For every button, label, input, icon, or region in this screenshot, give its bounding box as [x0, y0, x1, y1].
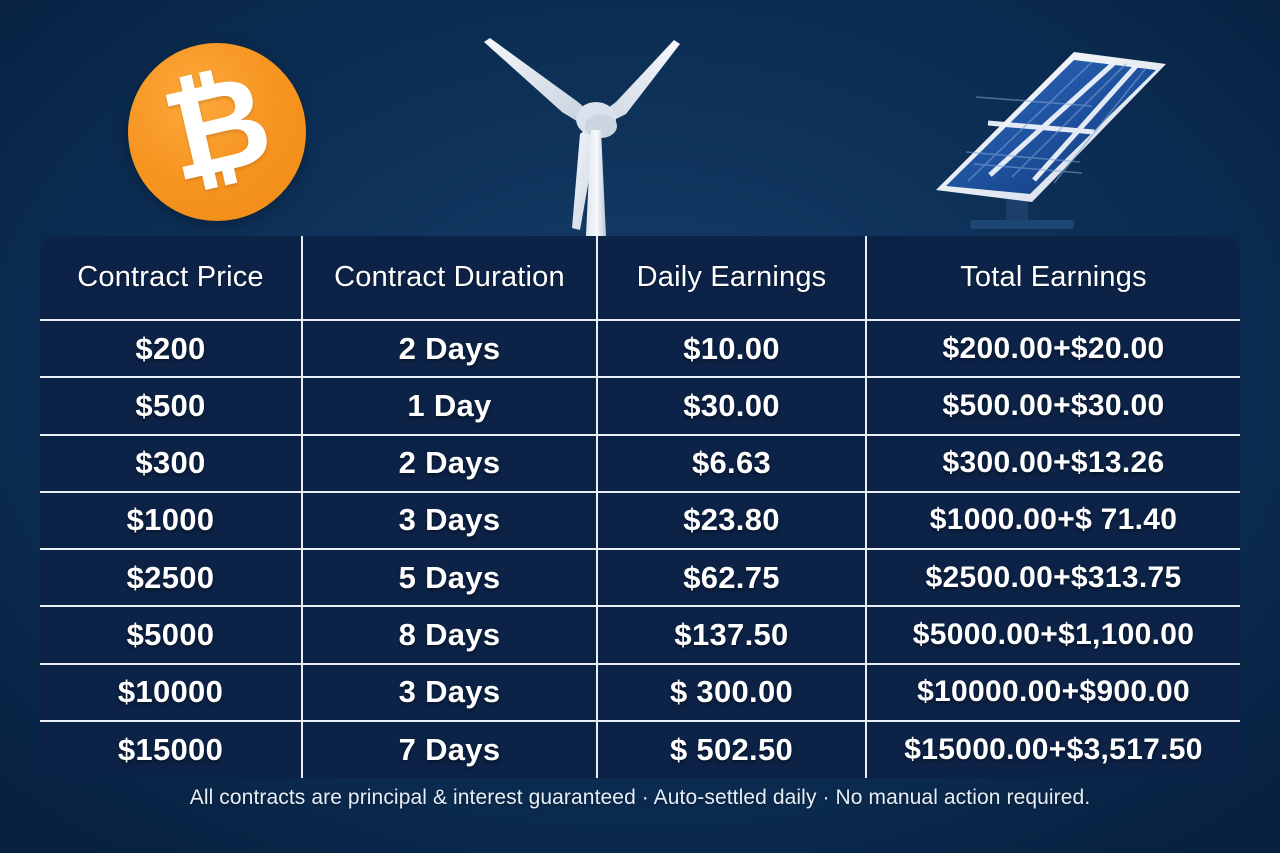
wind-turbine-icon [468, 22, 724, 236]
cell-contract-duration: 2 Days [302, 435, 597, 492]
cell-total-earnings: $300.00+$13.26 [866, 435, 1240, 492]
cell-contract-duration: 2 Days [302, 320, 597, 377]
table-row[interactable]: $200 2 Days $10.00 $200.00+$20.00 [40, 320, 1240, 377]
bitcoin-logo-icon: ₿ [128, 43, 306, 221]
cell-contract-price: $300 [40, 435, 302, 492]
contract-earnings-table: Contract Price Contract Duration Daily E… [40, 236, 1240, 778]
column-header-total-earnings: Total Earnings [866, 236, 1240, 320]
cell-total-earnings: $2500.00+$313.75 [866, 549, 1240, 606]
cell-total-earnings: $500.00+$30.00 [866, 377, 1240, 434]
cell-contract-duration: 8 Days [302, 606, 597, 663]
solar-panel-icon [878, 44, 1170, 236]
cell-daily-earnings: $6.63 [597, 435, 866, 492]
column-header-daily-earnings: Daily Earnings [597, 236, 866, 320]
table-header-row: Contract Price Contract Duration Daily E… [40, 236, 1240, 320]
cell-contract-price: $500 [40, 377, 302, 434]
cell-contract-price: $200 [40, 320, 302, 377]
table-row[interactable]: $500 1 Day $30.00 $500.00+$30.00 [40, 377, 1240, 434]
column-header-contract-duration: Contract Duration [302, 236, 597, 320]
earnings-table-card: Contract Price Contract Duration Daily E… [40, 236, 1240, 778]
cell-contract-duration: 1 Day [302, 377, 597, 434]
cell-contract-duration: 7 Days [302, 721, 597, 778]
table-header: Contract Price Contract Duration Daily E… [40, 236, 1240, 320]
cell-daily-earnings: $ 502.50 [597, 721, 866, 778]
bitcoin-symbol: ₿ [153, 55, 279, 200]
cell-total-earnings: $15000.00+$3,517.50 [866, 721, 1240, 778]
table-row[interactable]: $5000 8 Days $137.50 $5000.00+$1,100.00 [40, 606, 1240, 663]
cell-contract-price: $10000 [40, 664, 302, 721]
cell-contract-duration: 3 Days [302, 492, 597, 549]
cell-total-earnings: $10000.00+$900.00 [866, 664, 1240, 721]
icon-header-strip: ₿ [0, 0, 1280, 236]
cell-contract-price: $15000 [40, 721, 302, 778]
cell-daily-earnings: $23.80 [597, 492, 866, 549]
bitcoin-circle: ₿ [128, 43, 306, 221]
cell-daily-earnings: $ 300.00 [597, 664, 866, 721]
table-body: $200 2 Days $10.00 $200.00+$20.00 $500 1… [40, 320, 1240, 778]
cell-total-earnings: $1000.00+$ 71.40 [866, 492, 1240, 549]
cell-contract-price: $5000 [40, 606, 302, 663]
cell-total-earnings: $5000.00+$1,100.00 [866, 606, 1240, 663]
cell-contract-duration: 5 Days [302, 549, 597, 606]
cell-daily-earnings: $137.50 [597, 606, 866, 663]
cell-daily-earnings: $30.00 [597, 377, 866, 434]
table-row[interactable]: $10000 3 Days $ 300.00 $10000.00+$900.00 [40, 664, 1240, 721]
cell-contract-price: $2500 [40, 549, 302, 606]
cell-contract-duration: 3 Days [302, 664, 597, 721]
table-row[interactable]: $1000 3 Days $23.80 $1000.00+$ 71.40 [40, 492, 1240, 549]
cell-contract-price: $1000 [40, 492, 302, 549]
cell-daily-earnings: $10.00 [597, 320, 866, 377]
table-row[interactable]: $2500 5 Days $62.75 $2500.00+$313.75 [40, 549, 1240, 606]
table-row[interactable]: $300 2 Days $6.63 $300.00+$13.26 [40, 435, 1240, 492]
footer-disclaimer: All contracts are principal & interest g… [0, 786, 1280, 810]
cell-daily-earnings: $62.75 [597, 549, 866, 606]
column-header-contract-price: Contract Price [40, 236, 302, 320]
table-row[interactable]: $15000 7 Days $ 502.50 $15000.00+$3,517.… [40, 721, 1240, 778]
cell-total-earnings: $200.00+$20.00 [866, 320, 1240, 377]
